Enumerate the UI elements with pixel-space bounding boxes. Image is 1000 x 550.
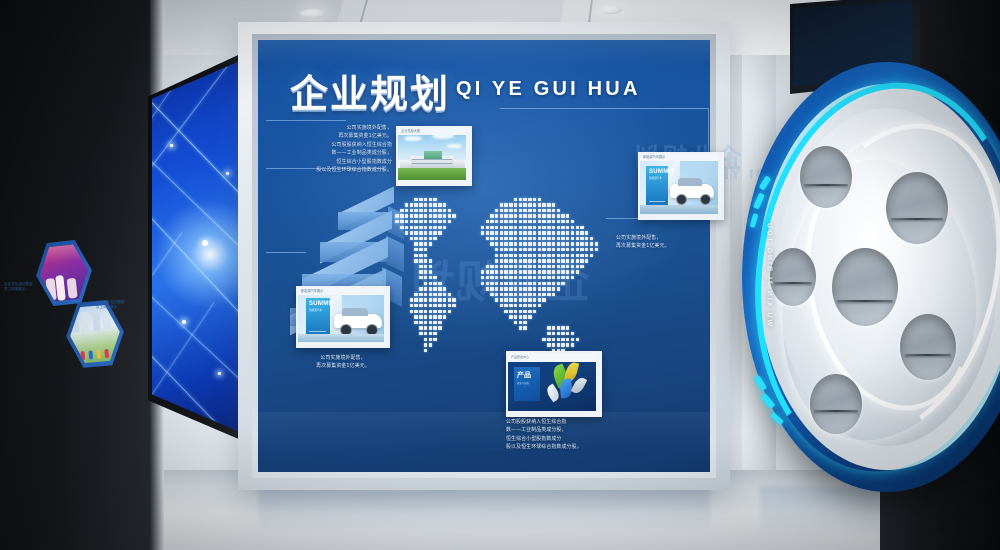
map-dot <box>547 338 550 341</box>
map-dot <box>528 287 531 290</box>
map-dot <box>424 198 427 201</box>
map-dot <box>414 198 417 201</box>
map-dot <box>547 248 550 251</box>
map-dot <box>590 242 593 245</box>
map-dot <box>419 231 422 234</box>
map-dot <box>576 270 579 273</box>
map-dot <box>542 242 545 245</box>
map-dot <box>419 321 422 324</box>
map-dot <box>490 214 493 217</box>
card-caption-bar: 企业总部大楼 <box>398 128 466 135</box>
map-dot <box>438 214 441 217</box>
map-dot <box>542 214 545 217</box>
map-dot <box>557 276 560 279</box>
map-dot <box>443 293 446 296</box>
map-dot <box>580 259 583 262</box>
map-dot <box>414 220 417 223</box>
map-dot <box>419 220 422 223</box>
map-dot <box>571 276 574 279</box>
map-dot <box>414 293 417 296</box>
left-display-screen[interactable] <box>152 52 252 441</box>
map-dot <box>547 332 550 335</box>
map-dot <box>433 282 436 285</box>
map-dot <box>542 248 545 251</box>
map-dot <box>424 220 427 223</box>
map-dot <box>414 321 417 324</box>
hex-caption-lower: 企业文化活动剪影 员工风采展示。 <box>96 300 140 310</box>
map-dot <box>490 220 493 223</box>
map-dot <box>519 259 522 262</box>
map-dot <box>495 237 498 240</box>
map-dot <box>429 209 432 212</box>
map-dot <box>557 332 560 335</box>
display-niche[interactable] <box>810 374 862 434</box>
map-dot <box>429 270 432 273</box>
map-dot <box>538 220 541 223</box>
map-dot <box>547 220 550 223</box>
map-dot <box>523 198 526 201</box>
map-dot <box>419 237 422 240</box>
map-dot <box>486 276 489 279</box>
map-dot <box>519 226 522 229</box>
map-dot <box>504 304 507 307</box>
map-dot <box>533 304 536 307</box>
map-dot <box>438 231 441 234</box>
map-dot <box>429 304 432 307</box>
map-dot <box>552 265 555 268</box>
map-dot <box>424 231 427 234</box>
product-photo: ESPRIT 产品 研发与创新 产品研发中心 <box>508 353 596 411</box>
map-dot <box>552 326 555 329</box>
circular-display-wall: WU XIN JI BING TOU <box>742 62 1000 492</box>
map-dot <box>538 242 541 245</box>
display-niche[interactable] <box>900 314 956 380</box>
map-dot <box>533 209 536 212</box>
map-dot <box>571 254 574 257</box>
map-dot <box>519 254 522 257</box>
map-dot <box>433 276 436 279</box>
map-dot <box>419 276 422 279</box>
map-dot <box>395 220 398 223</box>
map-dot <box>429 298 432 301</box>
map-dot <box>538 282 541 285</box>
map-dot <box>500 270 503 273</box>
map-dot <box>514 226 517 229</box>
display-niche[interactable] <box>886 172 948 244</box>
connector-line <box>266 120 346 121</box>
map-dot <box>557 254 560 257</box>
text-block-top-left: 公司实施境外配售， 再次募集资金1亿美元。 公司股股获纳入恒生综合指 数——工业… <box>272 124 392 175</box>
map-dot <box>514 254 517 257</box>
niche-shelf <box>804 184 848 186</box>
niche-shelf <box>891 218 943 220</box>
display-niche[interactable] <box>800 146 852 208</box>
map-dot <box>433 209 436 212</box>
map-dot <box>566 242 569 245</box>
map-dot <box>514 220 517 223</box>
map-dot <box>519 282 522 285</box>
map-dot <box>443 298 446 301</box>
map-dot <box>557 326 560 329</box>
map-dot <box>571 343 574 346</box>
map-dot <box>566 343 569 346</box>
hex-photo-frame-upper[interactable] <box>33 237 96 308</box>
map-dot <box>523 321 526 324</box>
map-dot <box>424 226 427 229</box>
map-dot <box>424 282 427 285</box>
map-dot <box>533 310 536 313</box>
map-dot <box>571 270 574 273</box>
map-dot <box>533 248 536 251</box>
map-dot <box>576 248 579 251</box>
map-dot <box>424 276 427 279</box>
map-dot <box>547 276 550 279</box>
map-dot <box>509 214 512 217</box>
map-dot <box>519 293 522 296</box>
map-dot <box>519 198 522 201</box>
map-dot <box>547 242 550 245</box>
map-dot <box>576 226 579 229</box>
map-dot <box>429 321 432 324</box>
map-dot <box>509 265 512 268</box>
map-dot <box>580 242 583 245</box>
map-dot <box>419 310 422 313</box>
map-dot <box>585 242 588 245</box>
card-caption-bar: 新能源汽车展示 <box>298 288 384 295</box>
map-dot <box>519 209 522 212</box>
map-dot <box>514 209 517 212</box>
map-dot <box>519 276 522 279</box>
map-dot <box>414 310 417 313</box>
map-dot <box>547 254 550 257</box>
map-dot <box>528 237 531 240</box>
map-dot <box>424 248 427 251</box>
map-dot <box>542 282 545 285</box>
map-dot <box>523 203 526 206</box>
map-dot <box>443 209 446 212</box>
map-dot <box>514 321 517 324</box>
map-dot <box>448 214 451 217</box>
map-dot <box>547 259 550 262</box>
map-dot <box>448 298 451 301</box>
map-dot <box>500 220 503 223</box>
map-dot <box>424 315 427 318</box>
map-dot <box>500 276 503 279</box>
map-dot <box>547 209 550 212</box>
map-dot <box>547 326 550 329</box>
map-dot <box>490 282 493 285</box>
map-dot <box>419 214 422 217</box>
map-dot <box>538 254 541 257</box>
display-niche[interactable] <box>770 248 816 306</box>
map-dot <box>500 287 503 290</box>
map-dot <box>528 315 531 318</box>
map-dot <box>405 209 408 212</box>
map-dot <box>452 298 455 301</box>
map-dot <box>585 237 588 240</box>
map-dot <box>538 287 541 290</box>
map-dot <box>552 231 555 234</box>
card-car-left[interactable]: SUMMIT 新能源汽车 新能源汽车展示 <box>296 286 390 348</box>
connector-line <box>500 108 708 109</box>
map-dot <box>419 332 422 335</box>
map-dot <box>410 298 413 301</box>
car-photo: SUMMIT 新能源汽车 <box>640 154 718 214</box>
downlight <box>300 9 326 18</box>
map-dot <box>448 209 451 212</box>
map-dot <box>443 304 446 307</box>
map-dot <box>504 282 507 285</box>
map-dot <box>552 270 555 273</box>
map-dot <box>557 259 560 262</box>
map-dot <box>500 209 503 212</box>
map-dot <box>542 226 545 229</box>
map-dot <box>576 338 579 341</box>
map-dot <box>538 231 541 234</box>
map-dot <box>414 203 417 206</box>
map-dot <box>566 254 569 257</box>
map-dot <box>509 242 512 245</box>
map-dot <box>424 338 427 341</box>
map-dot <box>557 270 560 273</box>
map-dot <box>519 231 522 234</box>
map-dot <box>490 287 493 290</box>
map-dot <box>519 220 522 223</box>
map-dot <box>419 242 422 245</box>
map-dot <box>429 198 432 201</box>
map-dot <box>571 248 574 251</box>
map-dot <box>509 282 512 285</box>
map-dot <box>514 242 517 245</box>
map-dot <box>514 214 517 217</box>
map-dot <box>504 270 507 273</box>
map-dot <box>523 214 526 217</box>
map-dot <box>438 293 441 296</box>
map-dot <box>514 293 517 296</box>
card-car-right[interactable]: SUMMIT 新能源汽车 新能源汽车展示 <box>638 152 724 220</box>
map-dot <box>400 220 403 223</box>
map-dot <box>509 259 512 262</box>
map-dot <box>424 304 427 307</box>
map-dot <box>514 304 517 307</box>
map-dot <box>590 254 593 257</box>
map-dot <box>400 226 403 229</box>
map-dot <box>509 304 512 307</box>
map-dot <box>429 231 432 234</box>
map-dot <box>448 293 451 296</box>
map-dot <box>405 220 408 223</box>
map-dot <box>509 237 512 240</box>
map-dot <box>557 214 560 217</box>
map-dot <box>552 214 555 217</box>
map-dot <box>414 231 417 234</box>
map-dot <box>538 209 541 212</box>
map-dot <box>481 282 484 285</box>
map-dot <box>405 231 408 234</box>
map-dot <box>514 198 517 201</box>
map-dot <box>419 270 422 273</box>
map-dot <box>557 265 560 268</box>
map-dot <box>547 270 550 273</box>
map-dot <box>433 203 436 206</box>
map-dot <box>547 226 550 229</box>
map-dot <box>481 226 484 229</box>
map-dot <box>414 315 417 318</box>
map-dot <box>533 287 536 290</box>
map-dot <box>514 298 517 301</box>
map-dot <box>523 326 526 329</box>
map-dot <box>557 248 560 251</box>
map-dot <box>585 254 588 257</box>
map-dot <box>514 203 517 206</box>
map-dot <box>443 226 446 229</box>
map-dot <box>486 282 489 285</box>
map-dot <box>557 343 560 346</box>
map-dot <box>504 237 507 240</box>
map-dot <box>410 304 413 307</box>
map-dot <box>429 293 432 296</box>
map-dot <box>438 304 441 307</box>
map-dot <box>424 203 427 206</box>
display-niche[interactable] <box>832 248 898 326</box>
map-dot <box>429 326 432 329</box>
map-dot <box>438 203 441 206</box>
map-dot <box>528 226 531 229</box>
map-dot <box>519 242 522 245</box>
map-dot <box>523 310 526 313</box>
map-dot <box>561 332 564 335</box>
map-dot <box>547 287 550 290</box>
map-dot <box>561 326 564 329</box>
map-dot <box>533 276 536 279</box>
map-dot <box>443 203 446 206</box>
map-dot <box>519 214 522 217</box>
map-dot <box>504 226 507 229</box>
map-dot <box>523 298 526 301</box>
map-dot <box>504 293 507 296</box>
card-product[interactable]: ESPRIT 产品 研发与创新 产品研发中心 <box>506 351 602 417</box>
map-dot <box>514 259 517 262</box>
map-dot <box>557 226 560 229</box>
map-dot <box>542 293 545 296</box>
map-dot <box>571 237 574 240</box>
map-dot <box>528 220 531 223</box>
product-tile: 产品 研发与创新 <box>514 367 540 401</box>
card-building[interactable]: 企业总部大楼 <box>396 126 472 186</box>
map-dot <box>405 214 408 217</box>
map-dot <box>500 298 503 301</box>
product-card-caption: 产品研发中心 <box>511 355 529 359</box>
map-dot <box>424 270 427 273</box>
map-dot <box>528 270 531 273</box>
map-dot <box>566 265 569 268</box>
map-dot <box>552 237 555 240</box>
map-dot <box>433 231 436 234</box>
map-dot <box>433 310 436 313</box>
map-dot <box>519 287 522 290</box>
map-dot <box>566 231 569 234</box>
map-dot <box>500 254 503 257</box>
map-dot <box>547 237 550 240</box>
map-dot <box>519 265 522 268</box>
map-dot <box>433 287 436 290</box>
map-dot <box>433 226 436 229</box>
map-dot <box>443 220 446 223</box>
map-dot <box>552 254 555 257</box>
map-dot <box>523 248 526 251</box>
map-dot <box>552 287 555 290</box>
map-dot <box>419 259 422 262</box>
map-dot <box>509 254 512 257</box>
map-dot <box>514 310 517 313</box>
map-dot <box>429 259 432 262</box>
map-dot <box>528 310 531 313</box>
map-dot <box>523 209 526 212</box>
map-dot <box>500 242 503 245</box>
map-dot <box>552 276 555 279</box>
map-dot <box>410 214 413 217</box>
map-dot <box>523 226 526 229</box>
map-dot <box>528 198 531 201</box>
map-dot <box>538 198 541 201</box>
map-dot <box>424 265 427 268</box>
map-dot <box>414 209 417 212</box>
map-dot <box>595 248 598 251</box>
map-dot <box>561 214 564 217</box>
map-dot <box>504 259 507 262</box>
map-dot <box>414 242 417 245</box>
map-dot <box>552 209 555 212</box>
map-dot <box>504 220 507 223</box>
hex-caption-upper: 企业文化活动剪影 员工风采展示。 <box>4 282 50 292</box>
map-dot <box>486 231 489 234</box>
map-dot <box>486 270 489 273</box>
map-dot <box>495 214 498 217</box>
map-dot <box>424 298 427 301</box>
map-dot <box>523 265 526 268</box>
map-dot <box>561 265 564 268</box>
map-dot <box>433 298 436 301</box>
map-dot <box>576 231 579 234</box>
map-dot <box>528 209 531 212</box>
map-dot <box>429 237 432 240</box>
map-dot <box>410 226 413 229</box>
map-dot <box>509 315 512 318</box>
map-dot <box>542 209 545 212</box>
map-dot <box>424 332 427 335</box>
map-dot <box>542 270 545 273</box>
map-dot <box>419 287 422 290</box>
map-dot <box>504 203 507 206</box>
map-dot <box>438 226 441 229</box>
map-dot <box>542 338 545 341</box>
map-dot <box>448 310 451 313</box>
map-dot <box>566 338 569 341</box>
map-dot <box>542 276 545 279</box>
map-dot <box>400 209 403 212</box>
map-dot <box>533 214 536 217</box>
map-dot <box>571 220 574 223</box>
map-dot <box>514 270 517 273</box>
map-dot <box>538 226 541 229</box>
map-dot <box>433 198 436 201</box>
map-dot <box>514 231 517 234</box>
map-dot <box>557 282 560 285</box>
map-dot <box>438 209 441 212</box>
map-dot <box>528 298 531 301</box>
map-dot <box>528 259 531 262</box>
map-dot <box>561 282 564 285</box>
